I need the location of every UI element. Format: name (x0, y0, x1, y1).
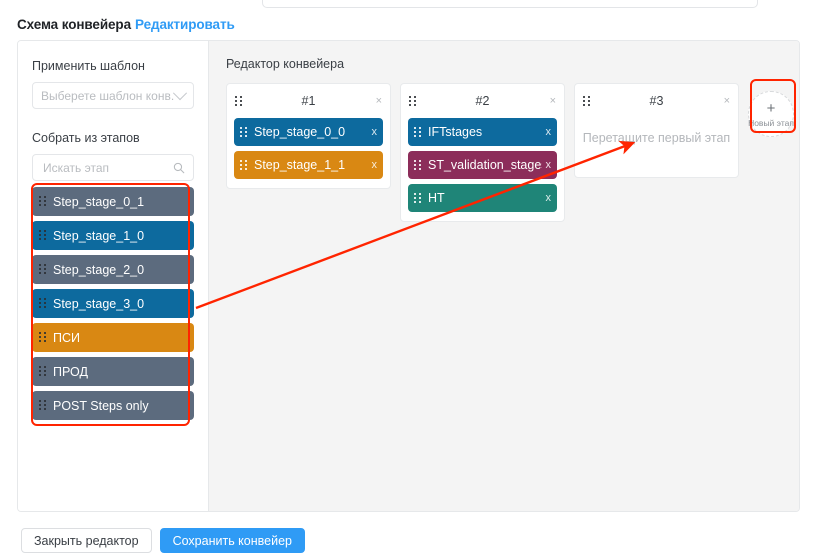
stage-palette: Step_stage_0_1Step_stage_1_0Step_stage_2… (32, 187, 194, 420)
pipeline-editor-panel: Применить шаблон Выберете шаблон конв...… (17, 40, 800, 512)
remove-item-icon[interactable]: x (546, 126, 552, 138)
drag-handle-icon[interactable] (414, 193, 421, 204)
remove-item-icon[interactable]: x (546, 192, 552, 204)
plus-icon: + (767, 101, 776, 116)
search-input[interactable] (41, 160, 173, 176)
stage-item[interactable]: Step_stage_0_0x (234, 118, 383, 146)
close-icon[interactable]: × (375, 96, 383, 107)
palette-chip-label: Step_stage_1_0 (53, 229, 144, 243)
palette-chip-label: Step_stage_2_0 (53, 263, 144, 277)
drag-handle-icon[interactable] (39, 366, 46, 377)
left-sidebar: Применить шаблон Выберете шаблон конв...… (18, 41, 208, 511)
stage-item-label: ST_validation_stages (428, 158, 542, 172)
stage-item-label: Step_stage_1_1 (254, 158, 368, 172)
drag-handle-icon[interactable] (414, 127, 421, 138)
stage-item[interactable]: IFTstagesx (408, 118, 557, 146)
new-stage-button[interactable]: +Новый этап (748, 91, 794, 137)
stage-number: #1 (234, 94, 383, 108)
close-icon[interactable]: × (723, 96, 731, 107)
stage-item[interactable]: ST_validation_stagesx (408, 151, 557, 179)
stage-card-header: #2× (408, 91, 557, 111)
drag-handle-icon[interactable] (235, 96, 242, 107)
palette-chip[interactable]: ПСИ (32, 323, 194, 352)
palette-chip[interactable]: Step_stage_2_0 (32, 255, 194, 284)
stage-item-label: IFTstages (428, 125, 542, 139)
stage-card[interactable]: #2×IFTstagesxST_validation_stagesxHTx (400, 83, 565, 222)
drag-handle-icon[interactable] (240, 160, 247, 171)
chevron-down-icon (173, 86, 187, 100)
drag-handle-icon[interactable] (39, 332, 46, 343)
drag-handle-icon[interactable] (409, 96, 416, 107)
palette-chip-label: Step_stage_0_1 (53, 195, 144, 209)
remove-item-icon[interactable]: x (372, 159, 378, 171)
palette-chip[interactable]: POST Steps only (32, 391, 194, 420)
stage-item[interactable]: Step_stage_1_1x (234, 151, 383, 179)
remove-item-icon[interactable]: x (372, 126, 378, 138)
stage-item-label: HT (428, 191, 542, 205)
stage-search-box[interactable] (32, 154, 194, 181)
stage-number: #3 (582, 94, 731, 108)
palette-chip[interactable]: ПРОД (32, 357, 194, 386)
apply-template-label: Применить шаблон (32, 59, 194, 73)
drag-handle-icon[interactable] (240, 127, 247, 138)
template-select[interactable]: Выберете шаблон конв... (32, 82, 194, 109)
footer-actions: Закрыть редактор Сохранить конвейер (21, 528, 305, 553)
drag-handle-icon[interactable] (39, 298, 46, 309)
close-icon[interactable]: × (549, 96, 557, 107)
stage-columns: #1×Step_stage_0_0xStep_stage_1_1x#2×IFTs… (226, 83, 799, 222)
editor-area-title: Редактор конвейера (226, 57, 799, 71)
stage-item-label: Step_stage_0_0 (254, 125, 368, 139)
close-editor-button[interactable]: Закрыть редактор (21, 528, 152, 553)
palette-chip-label: POST Steps only (53, 399, 149, 413)
stage-card-header: #1× (234, 91, 383, 111)
drag-handle-icon[interactable] (583, 96, 590, 107)
edit-link[interactable]: Редактировать (135, 17, 235, 32)
page-title: Схема конвейераРедактировать (17, 17, 235, 32)
palette-chip-label: ПСИ (53, 331, 80, 345)
assemble-from-stages-label: Собрать из этапов (32, 131, 194, 145)
palette-chip-label: Step_stage_3_0 (53, 297, 144, 311)
empty-stage-placeholder: Перетащите первый этап (582, 118, 731, 168)
drag-handle-icon[interactable] (39, 230, 46, 241)
search-icon (173, 162, 185, 174)
drag-handle-icon[interactable] (414, 160, 421, 171)
new-stage-label: Новый этап (748, 118, 794, 128)
remove-item-icon[interactable]: x (546, 159, 552, 171)
page-title-text: Схема конвейера (17, 17, 131, 32)
palette-chip[interactable]: Step_stage_3_0 (32, 289, 194, 318)
palette-chip[interactable]: Step_stage_0_1 (32, 187, 194, 216)
drag-handle-icon[interactable] (39, 264, 46, 275)
editor-area: Редактор конвейера #1×Step_stage_0_0xSte… (208, 41, 799, 511)
drag-handle-icon[interactable] (39, 196, 46, 207)
drag-handle-icon[interactable] (39, 400, 46, 411)
stage-card-header: #3× (582, 91, 731, 111)
top-cropped-input[interactable] (262, 0, 758, 8)
save-pipeline-button[interactable]: Сохранить конвейер (160, 528, 305, 553)
palette-chip-label: ПРОД (53, 365, 88, 379)
stage-item[interactable]: HTx (408, 184, 557, 212)
template-select-value: Выберете шаблон конв... (41, 89, 175, 103)
stage-card[interactable]: #1×Step_stage_0_0xStep_stage_1_1x (226, 83, 391, 189)
stage-card[interactable]: #3×Перетащите первый этап (574, 83, 739, 178)
palette-chip[interactable]: Step_stage_1_0 (32, 221, 194, 250)
stage-number: #2 (408, 94, 557, 108)
